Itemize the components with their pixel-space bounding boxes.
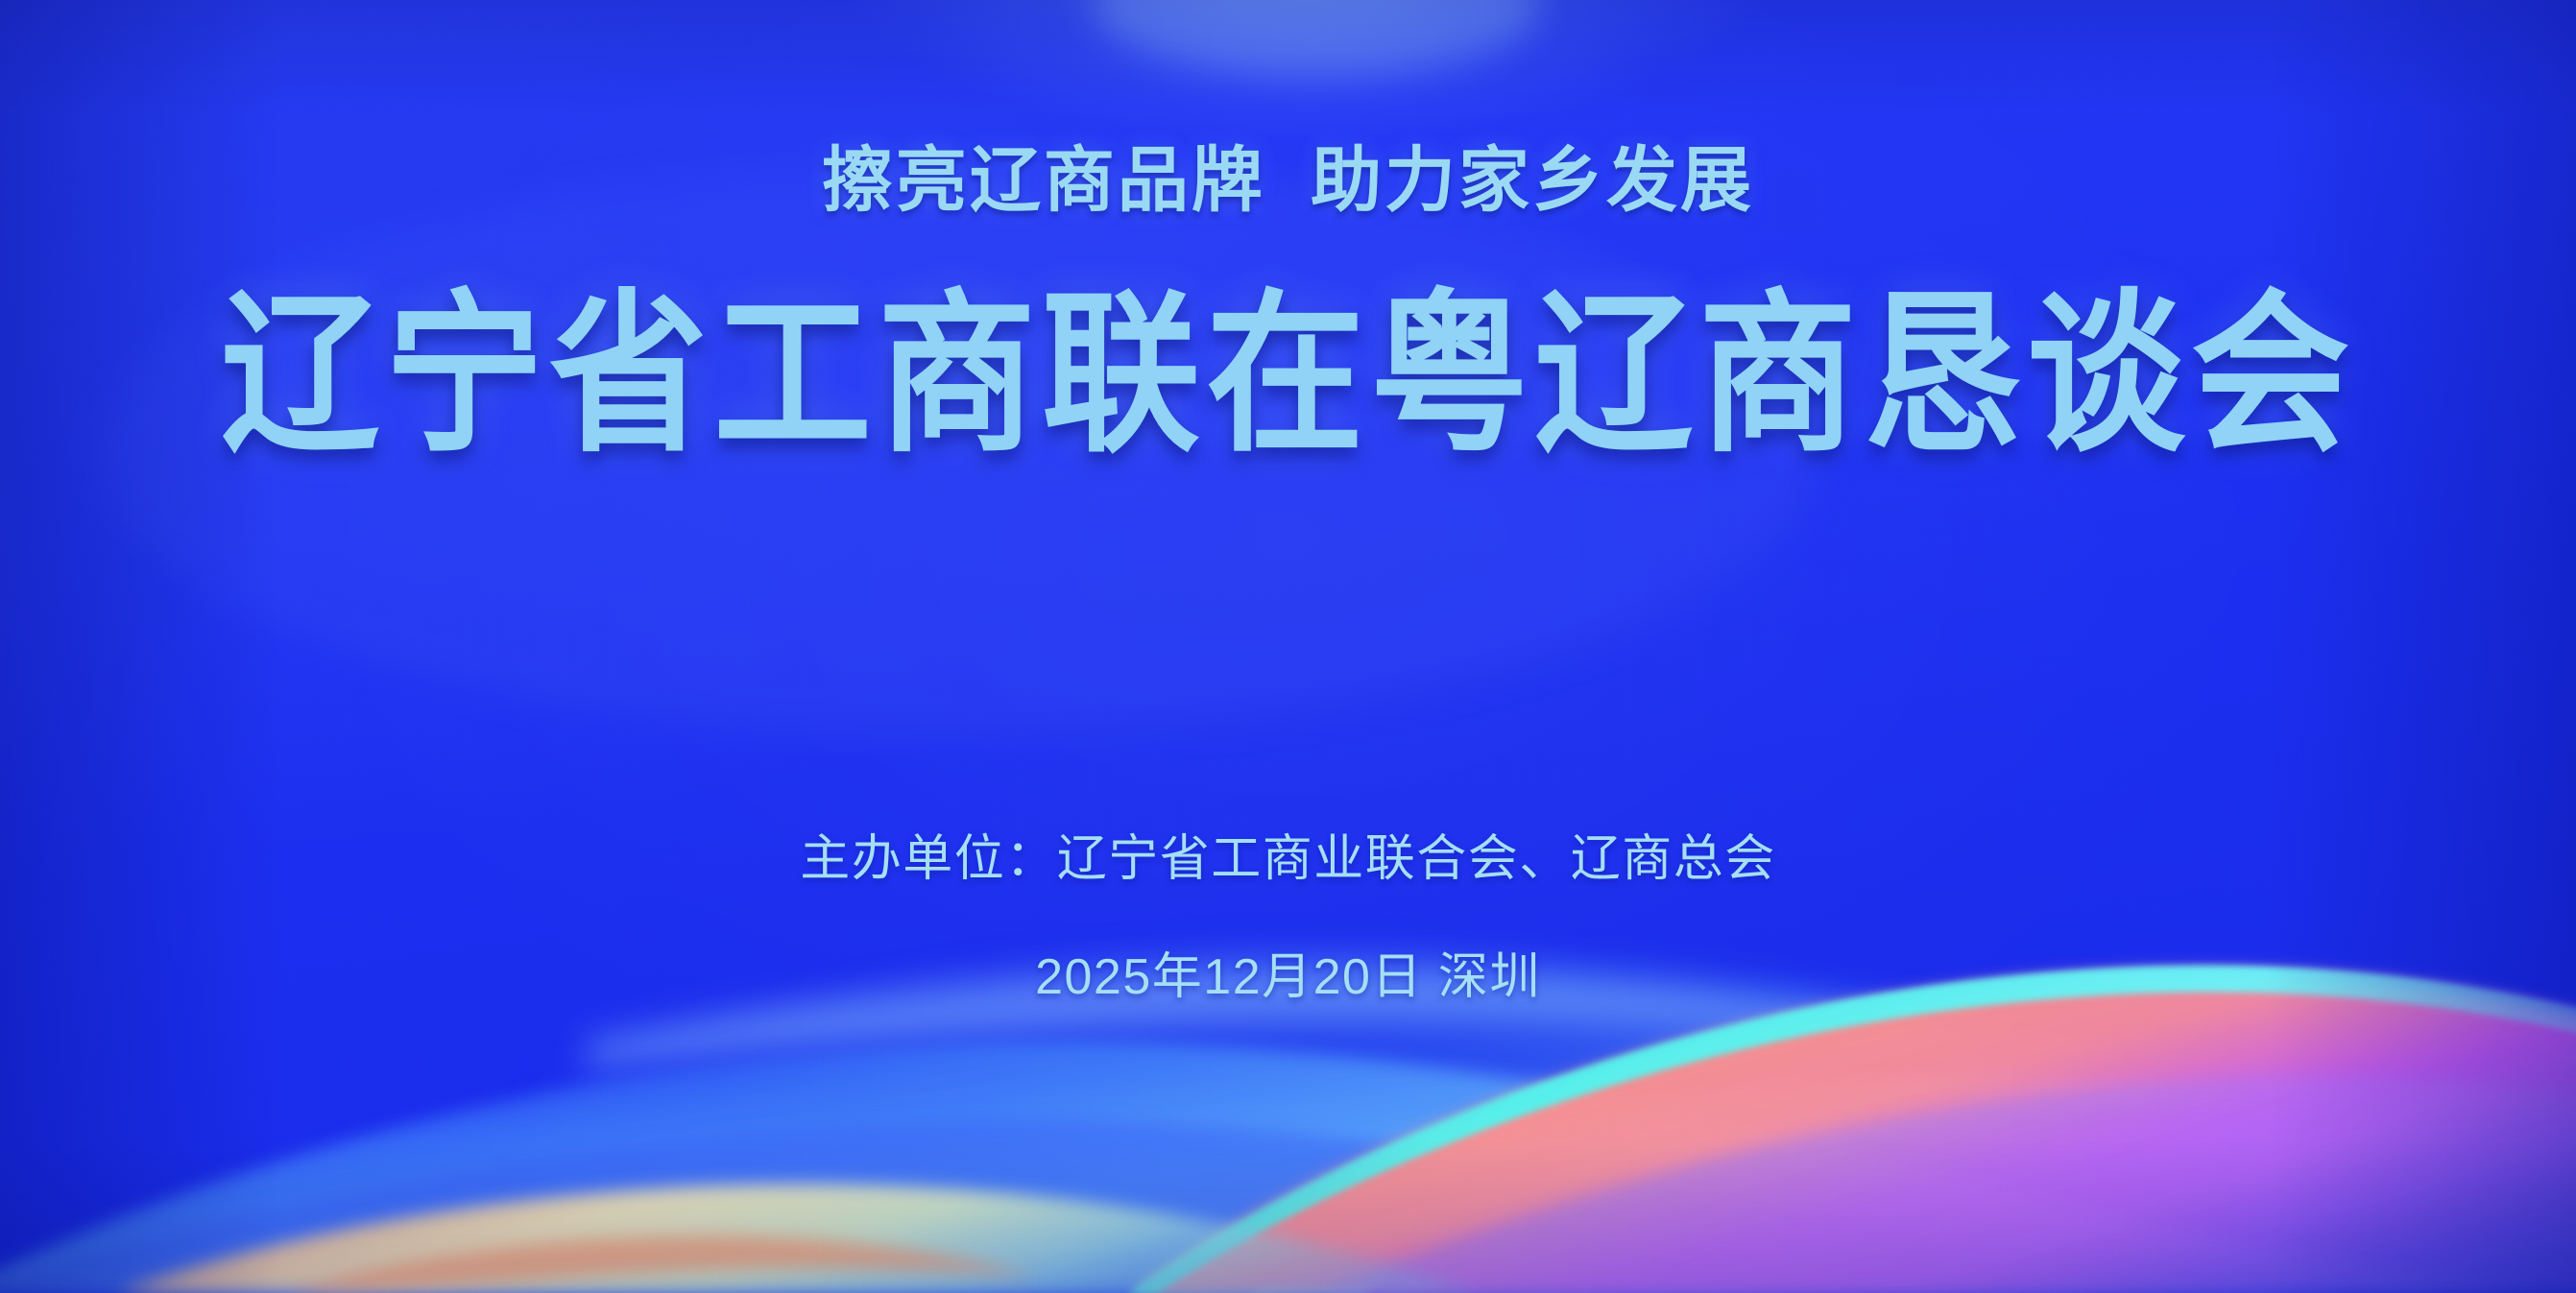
backdrop-text-block: 擦亮辽商品牌 助力家乡发展 辽宁省工商联在粤辽商恳谈会 主办单位：辽宁省工商业联…	[0, 0, 2576, 1293]
event-organizer: 主办单位：辽宁省工商业联合会、辽商总会	[0, 818, 2576, 890]
event-datetime-location: 2025年12月20日 深圳	[0, 936, 2576, 1008]
event-slogan: 擦亮辽商品牌 助力家乡发展	[0, 123, 2576, 226]
event-backdrop-screen: 擦亮辽商品牌 助力家乡发展 辽宁省工商联在粤辽商恳谈会 主办单位：辽宁省工商业联…	[0, 0, 2576, 1293]
event-main-title: 辽宁省工商联在粤辽商恳谈会	[0, 233, 2576, 486]
